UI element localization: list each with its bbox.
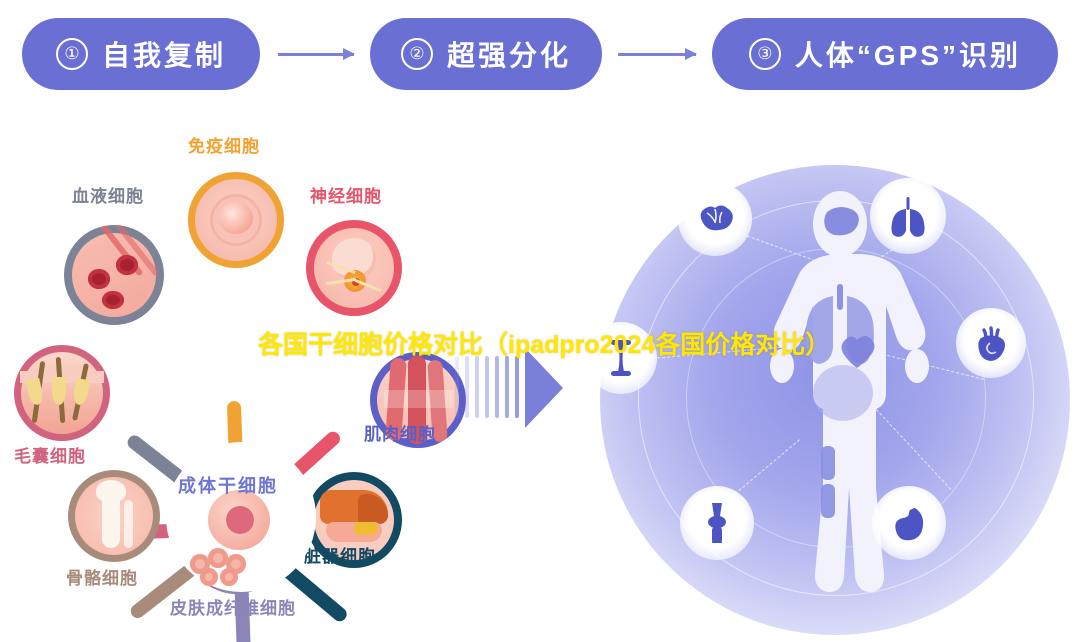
stem-cell-colony-icon-4: [200, 568, 218, 586]
step-number-2: ②: [401, 38, 433, 70]
step-number-3: ③: [749, 38, 781, 70]
lungs-icon: [888, 195, 928, 237]
kidney-icon: [891, 504, 927, 542]
label-blood-cell: 血液细胞: [72, 188, 144, 205]
step-label-1: 自我复制: [102, 34, 226, 74]
process-banner: ① 自我复制 ② 超强分化 ③ 人体“GPS”识别: [0, 18, 1080, 110]
step-label-3: 人体“GPS”识别: [795, 34, 1021, 74]
label-organ-cell: 脏器细胞: [304, 548, 376, 565]
stem-cell-colony-icon-5: [220, 568, 238, 586]
infographic-canvas: ① 自我复制 ② 超强分化 ③ 人体“GPS”识别 免疫细胞: [0, 0, 1080, 642]
label-skin-fibroblast-cell: 皮肤成纤维细胞: [170, 600, 296, 617]
step-number-1: ①: [56, 38, 88, 70]
label-bone-cell: 骨骼细胞: [66, 570, 138, 587]
human-body-gps-panel: [590, 160, 1080, 642]
label-hair-follicle-cell: 毛囊细胞: [14, 448, 86, 465]
organ-bubble-kidney[interactable]: [872, 486, 946, 560]
label-muscle-cell: 肌肉细胞: [364, 426, 436, 443]
node-hair-follicle-cell[interactable]: [14, 345, 110, 441]
organ-bubble-heart[interactable]: [956, 308, 1026, 378]
right-arrow-icon-1: [278, 53, 354, 56]
heart-icon: [973, 324, 1009, 362]
label-immune-cell: 免疫细胞: [188, 138, 260, 155]
label-adult-stem-cell: 成体干细胞: [178, 472, 278, 498]
stem-cell-colony-icon-2: [208, 548, 228, 568]
organ-bubble-brain[interactable]: [678, 182, 752, 256]
organ-bubble-lungs[interactable]: [870, 178, 946, 254]
knee-joint-icon: [702, 501, 732, 545]
node-nerve-cell[interactable]: [306, 220, 402, 316]
node-blood-cell[interactable]: [64, 225, 164, 325]
organ-bubble-knee[interactable]: [680, 486, 754, 560]
label-nerve-cell: 神经细胞: [310, 188, 382, 205]
brain-icon: [695, 201, 735, 237]
node-adult-stem-cell-hub[interactable]: [166, 442, 316, 592]
process-step-1[interactable]: ① 自我复制: [22, 18, 260, 90]
stem-cell-nucleolus-icon: [226, 506, 254, 534]
right-arrow-icon-2: [618, 53, 696, 56]
node-bone-cell[interactable]: [68, 470, 160, 562]
node-immune-cell[interactable]: [188, 172, 284, 268]
process-step-3[interactable]: ③ 人体“GPS”识别: [712, 18, 1058, 90]
overlay-caption-text: 各国干细胞价格对比（ipadpro2024各国价格对比）: [258, 325, 830, 361]
process-step-2[interactable]: ② 超强分化: [370, 18, 602, 90]
step-label-2: 超强分化: [447, 34, 571, 74]
